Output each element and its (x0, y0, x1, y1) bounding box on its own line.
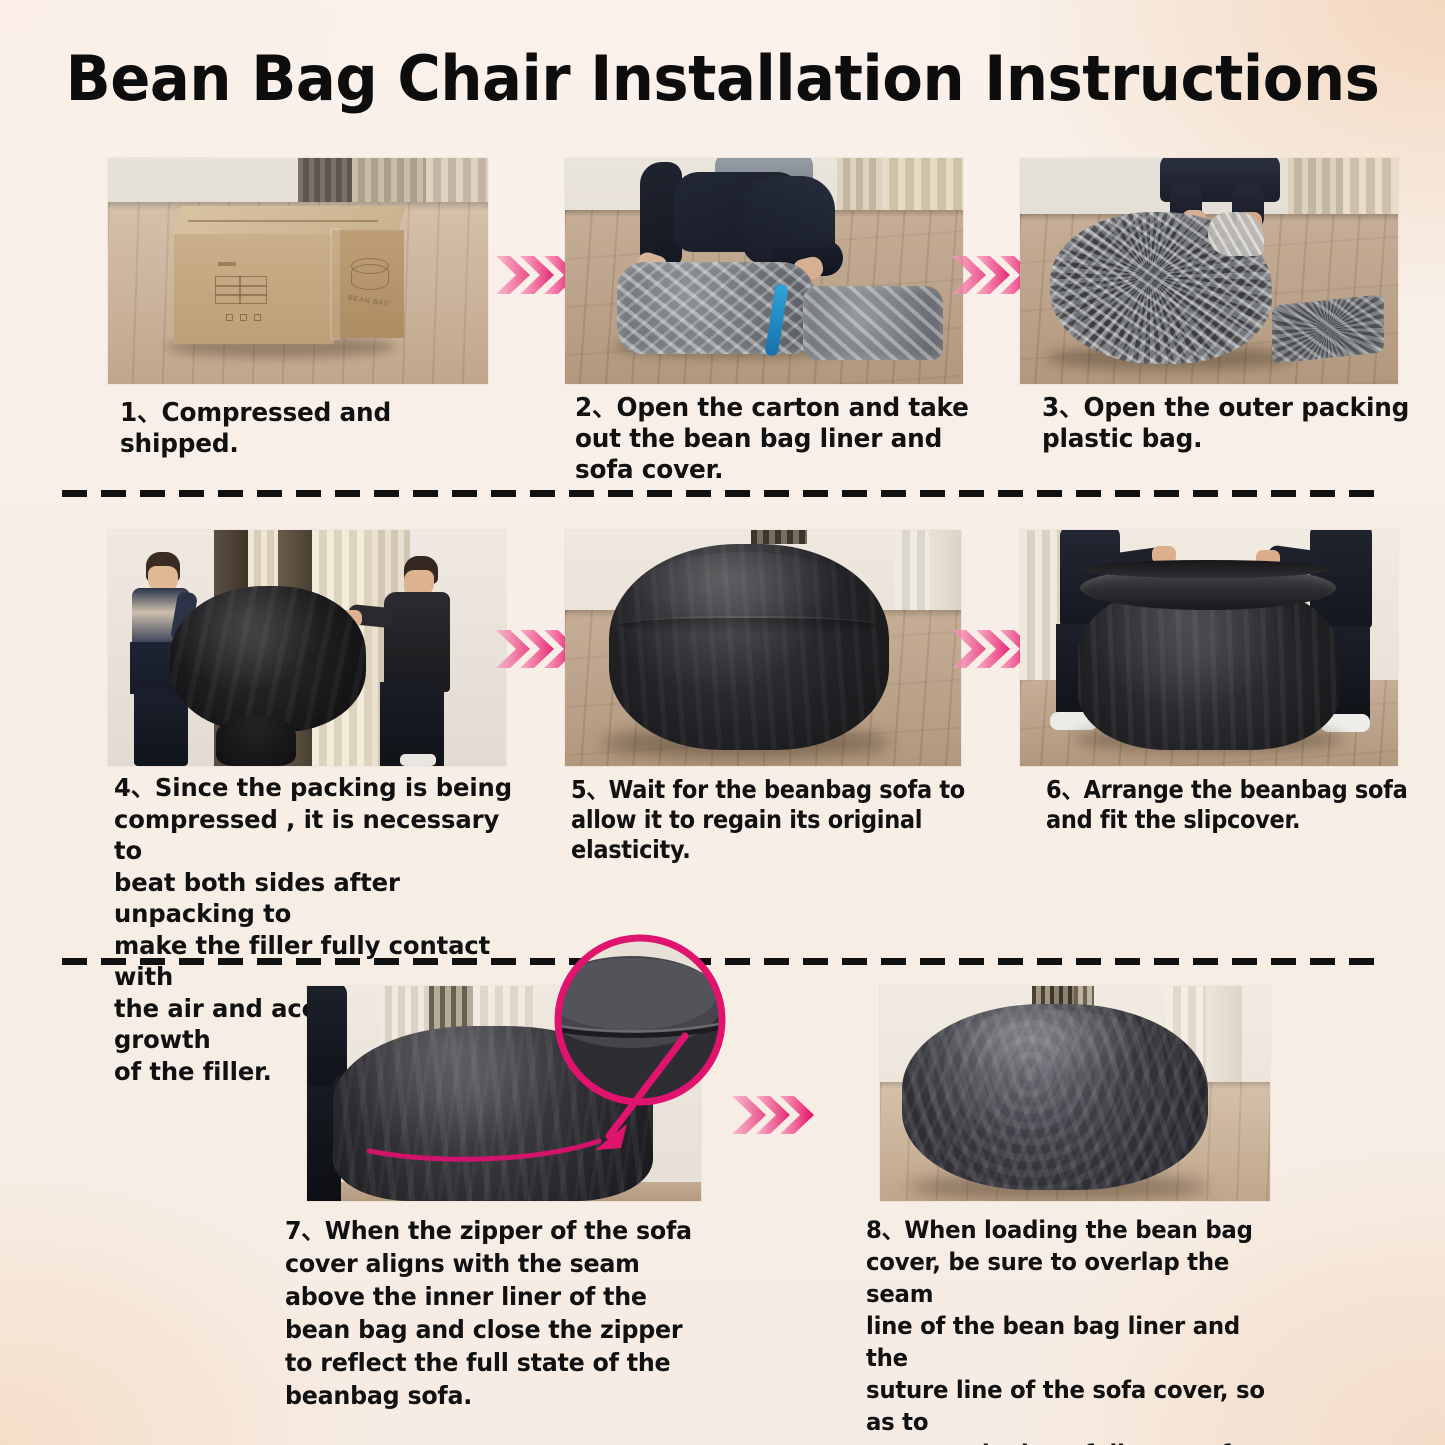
step-8-caption: 8、When loading the bean bag cover, be su… (866, 1214, 1265, 1445)
step-2: 2、Open the carton and take out the bean … (565, 158, 963, 384)
arrow-step-7-to-8 (730, 1080, 818, 1155)
step-2-caption: 2、Open the carton and take out the bean … (575, 393, 982, 486)
step-6: 6、Arrange the beanbag sofa and fit the s… (1020, 530, 1398, 766)
step-1: BEAN BAG 1、Compressed and shipped. (108, 158, 488, 384)
step-7: 7、When the zipper of the sofa cover alig… (307, 986, 701, 1201)
divider-row-1 (62, 490, 1384, 497)
step-4-photo (108, 530, 506, 766)
step-5-photo (565, 530, 961, 766)
step-5: 5、Wait for the beanbag sofa to allow it … (565, 530, 961, 766)
step-7-caption: 7、When the zipper of the sofa cover alig… (285, 1214, 694, 1412)
step-5-caption: 5、Wait for the beanbag sofa to allow it … (571, 775, 985, 865)
step-1-caption: 1、Compressed and shipped. (120, 398, 508, 460)
step-1-photo: BEAN BAG (108, 158, 488, 384)
step-3-caption: 3、Open the outer packing plastic bag. (1042, 393, 1430, 455)
infographic-page: Bean Bag Chair Installation Instructions (0, 0, 1445, 1445)
step-8: 8、When loading the bean bag cover, be su… (880, 986, 1270, 1201)
page-title: Bean Bag Chair Installation Instructions (33, 42, 1413, 115)
step-2-photo (565, 158, 963, 384)
pink-seam-line-icon (307, 986, 701, 1201)
step-6-photo (1020, 530, 1398, 766)
divider-row-2 (62, 958, 1384, 965)
step-3: 3、Open the outer packing plastic bag. (1020, 158, 1398, 384)
step-3-photo (1020, 158, 1398, 384)
step-4: 4、Since the packing is being compressed … (108, 530, 506, 766)
step-8-photo (880, 986, 1270, 1201)
step-7-photo (307, 986, 701, 1201)
triple-chevron-right-icon (730, 1080, 818, 1150)
step-6-caption: 6、Arrange the beanbag sofa and fit the s… (1046, 775, 1424, 835)
